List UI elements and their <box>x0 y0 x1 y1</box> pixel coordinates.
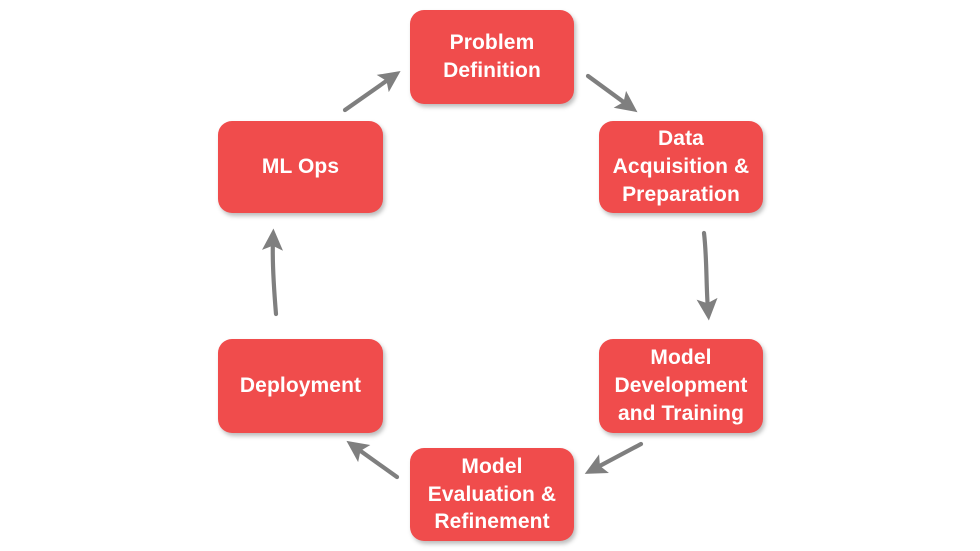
arrow-eval-to-deployment <box>355 447 397 477</box>
node-data-acquisition-preparation[interactable]: Data Acquisition & Preparation <box>599 121 763 213</box>
node-ml-ops[interactable]: ML Ops <box>218 121 383 213</box>
node-deployment[interactable]: Deployment <box>218 339 383 433</box>
diagram-canvas: Problem Definition Data Acquisition & Pr… <box>0 0 980 551</box>
arrow-deployment-to-mlops <box>273 239 276 314</box>
arrow-model-dev-to-eval <box>594 444 641 469</box>
arrow-problem-to-data <box>588 76 629 106</box>
node-problem-definition[interactable]: Problem Definition <box>410 10 574 104</box>
arrow-mlops-to-problem <box>345 77 392 110</box>
node-model-evaluation-refinement[interactable]: Model Evaluation & Refinement <box>410 448 574 541</box>
arrow-data-to-model-dev <box>704 233 708 310</box>
node-model-development-training[interactable]: Model Development and Training <box>599 339 763 433</box>
